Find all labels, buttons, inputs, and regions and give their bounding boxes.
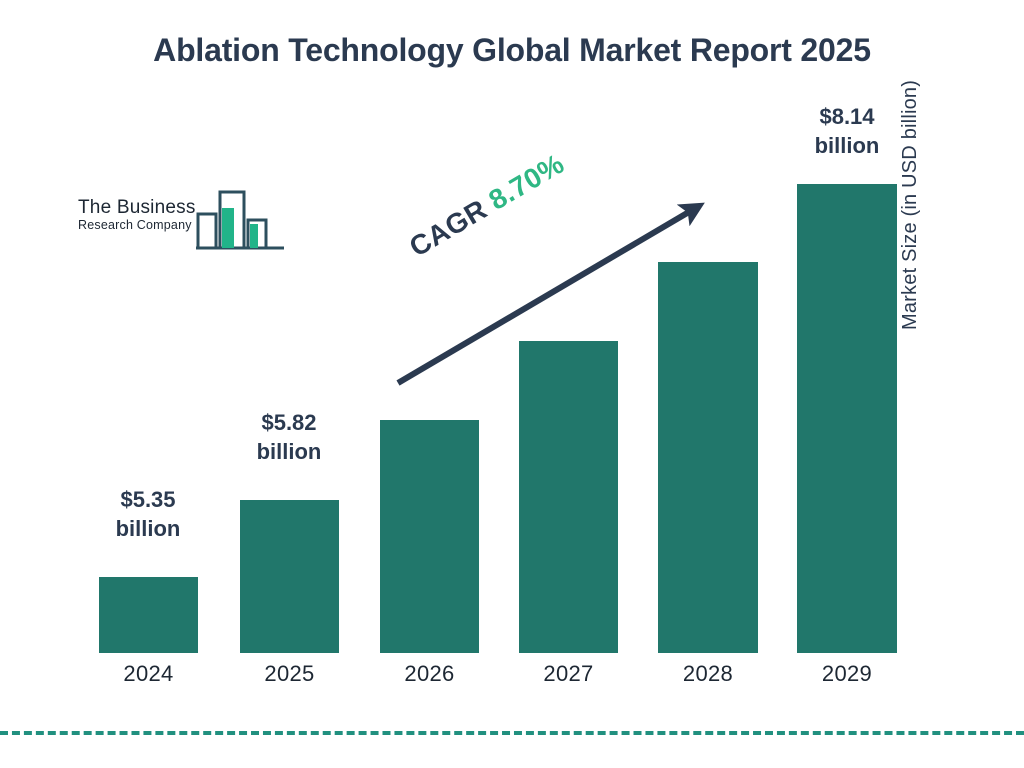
footer-divider	[0, 731, 1024, 735]
growth-trend-arrow-icon	[0, 0, 1024, 768]
bar-chart-plot-area: $5.35 billion $5.82 billion $8.14 billio…	[0, 0, 1024, 768]
chart-canvas: Ablation Technology Global Market Report…	[0, 0, 1024, 768]
y-axis-title: Market Size (in USD billion)	[899, 10, 922, 330]
